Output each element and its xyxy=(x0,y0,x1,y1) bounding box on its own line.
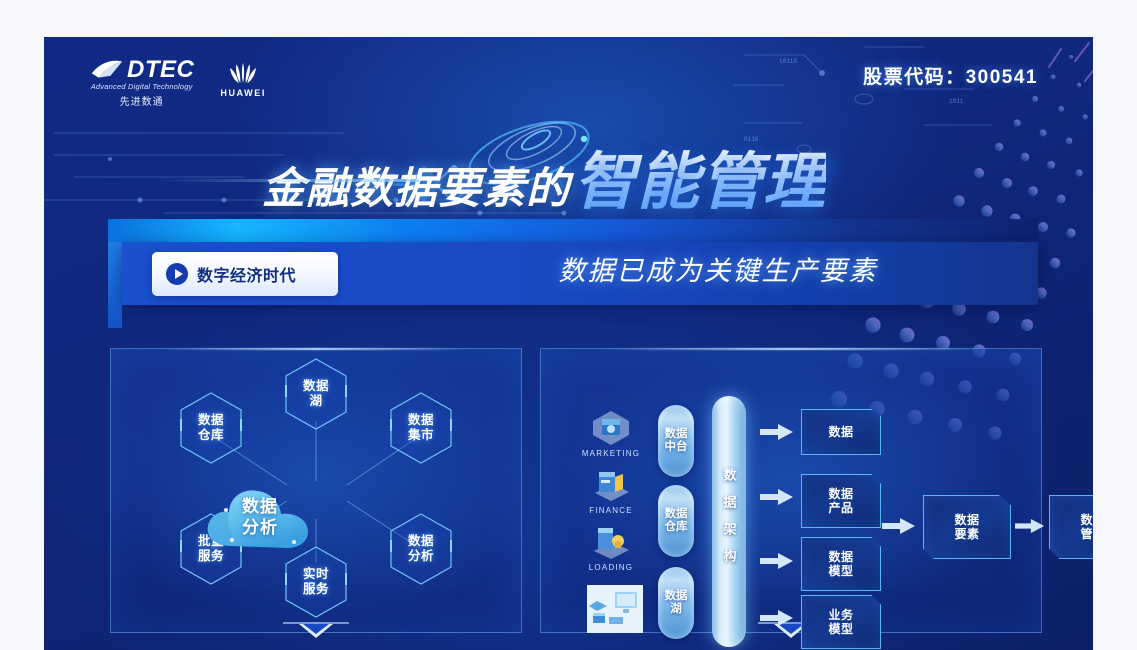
capsule-label-line2: 湖 xyxy=(665,603,688,616)
dtec-logo: DTEC Advanced Digital Technology 先进数通 xyxy=(89,59,194,108)
hex-label-line2: 仓库 xyxy=(198,428,224,443)
title-part-1: 金融数据要素的 xyxy=(262,154,570,216)
banner-left-edge xyxy=(108,242,122,328)
hex-label-line2: 分析 xyxy=(408,549,434,564)
output-label-line1: 数据 xyxy=(828,487,853,501)
dtec-tagline: Advanced Digital Technology xyxy=(89,82,194,91)
output-label-line2: 模型 xyxy=(828,622,853,636)
capsule-label-line1: 数据 xyxy=(665,590,688,603)
card-top-glow xyxy=(601,348,981,350)
source-label-loading: LOADING xyxy=(579,563,643,572)
stock-code: 股票代码：300541 xyxy=(863,62,1038,89)
flow-arrow-3-icon xyxy=(760,550,794,572)
capsule-label-line2: 中台 xyxy=(665,441,688,454)
final-arrow-icon xyxy=(1015,515,1045,537)
logo-group: DTEC Advanced Digital Technology 先进数通 HU… xyxy=(89,59,266,108)
stage-box-data-governance[interactable]: 数据管理 xyxy=(1049,495,1093,559)
output-label-line1: 业务 xyxy=(828,608,853,622)
section-headline: 数据已成为关键生产要素 xyxy=(398,249,1038,288)
iso-database-icon xyxy=(589,522,633,562)
dtec-wordmark: DTEC xyxy=(127,59,194,81)
cloud-icon: 数据 分析 xyxy=(202,480,318,558)
output-box-business-model[interactable]: 业务模型 xyxy=(801,595,881,649)
stage-label-line2: 管理 xyxy=(1080,527,1093,541)
hex-label-line2: 集市 xyxy=(408,428,434,443)
title-underline-decoration xyxy=(159,179,419,182)
svg-text:1011: 1011 xyxy=(949,98,964,105)
hex-label-line1: 数据 xyxy=(408,413,434,428)
iso-server-icon xyxy=(589,465,633,505)
source-label-marketing: MARKETING xyxy=(579,449,643,458)
output-box-data-product[interactable]: 数据产品 xyxy=(801,474,881,528)
hex-node-data-lake[interactable]: 数据湖 xyxy=(283,357,349,431)
title-part-2: 智能管理 xyxy=(574,131,826,221)
hex-node-data-warehouse[interactable]: 数据仓库 xyxy=(178,391,244,465)
output-label-line2: 产品 xyxy=(828,501,853,515)
svg-text:10110: 10110 xyxy=(779,58,797,65)
hex-label-line2: 服务 xyxy=(303,582,329,597)
flow-arrow-2-icon xyxy=(760,486,794,508)
slide-stage: 101100101 10110110 xyxy=(0,0,1137,650)
hex-node-data-analytics[interactable]: 数据分析 xyxy=(388,512,454,586)
play-circle-icon xyxy=(166,263,188,285)
pipeline-label: 数据架构 xyxy=(720,468,739,576)
huawei-logo: HUAWEI xyxy=(220,59,266,98)
output-label-line1: 数据 xyxy=(828,425,853,439)
output-label-line2: 模型 xyxy=(828,564,853,578)
dtec-chinese-name: 先进数通 xyxy=(89,93,194,108)
cloud-label: 数据 分析 xyxy=(202,496,318,538)
page-title: 金融数据要素的 智能管理 xyxy=(44,131,1044,221)
hex-label-line2: 湖 xyxy=(309,394,322,409)
flow-arrow-4-icon xyxy=(760,607,794,629)
output-box-data-model[interactable]: 数据模型 xyxy=(801,537,881,591)
hex-label-line1: 数据 xyxy=(303,379,329,394)
section-tag[interactable]: 数字经济时代 xyxy=(152,252,338,296)
hex-label-line1: 数据 xyxy=(408,534,434,549)
cloud-label-line1: 数据 xyxy=(202,496,318,517)
presentation-slide: 101100101 10110110 xyxy=(44,37,1093,650)
title-block: 金融数据要素的 智能管理 xyxy=(44,117,1093,227)
flow-arrow-1-icon xyxy=(760,421,794,443)
output-label-line1: 数据 xyxy=(828,550,853,564)
card-bottom-chevron-down-icon xyxy=(281,621,351,641)
section-tag-label: 数字经济时代 xyxy=(197,262,296,286)
capsule-data-midplatform[interactable]: 数据中台 xyxy=(658,405,694,477)
capsule-data-warehouse[interactable]: 数据仓库 xyxy=(658,485,694,557)
huawei-petal-icon xyxy=(226,61,260,85)
capsule-label-line1: 数据 xyxy=(665,428,688,441)
stage-label-line2: 要素 xyxy=(954,527,979,541)
stage-label-line1: 数据 xyxy=(1080,513,1093,527)
stage-box-data-element[interactable]: 数据要素 xyxy=(923,495,1011,559)
hex-label-line1: 实时 xyxy=(303,567,329,582)
pipeline-data-architecture[interactable]: 数据架构 xyxy=(712,396,746,647)
output-box-data[interactable]: 数据 xyxy=(801,409,881,455)
iso-workstation-icon xyxy=(587,585,643,633)
stage-label-line1: 数据 xyxy=(954,513,979,527)
cloud-label-line2: 分析 xyxy=(202,517,318,538)
capsule-data-lake[interactable]: 数据湖 xyxy=(658,567,694,639)
capsule-label-line2: 仓库 xyxy=(665,521,688,534)
section-banner: 数字经济时代 数据已成为关键生产要素 xyxy=(108,219,1038,331)
dtec-swoosh-icon xyxy=(89,59,125,81)
huawei-wordmark: HUAWEI xyxy=(220,88,266,98)
iso-cube-icon xyxy=(589,408,633,448)
source-label-finance: FINANCE xyxy=(579,506,643,515)
hex-node-data-mart[interactable]: 数据集市 xyxy=(388,391,454,465)
merge-arrow-icon xyxy=(882,515,916,537)
hex-label-line1: 数据 xyxy=(198,413,224,428)
capsule-label-line1: 数据 xyxy=(665,508,688,521)
